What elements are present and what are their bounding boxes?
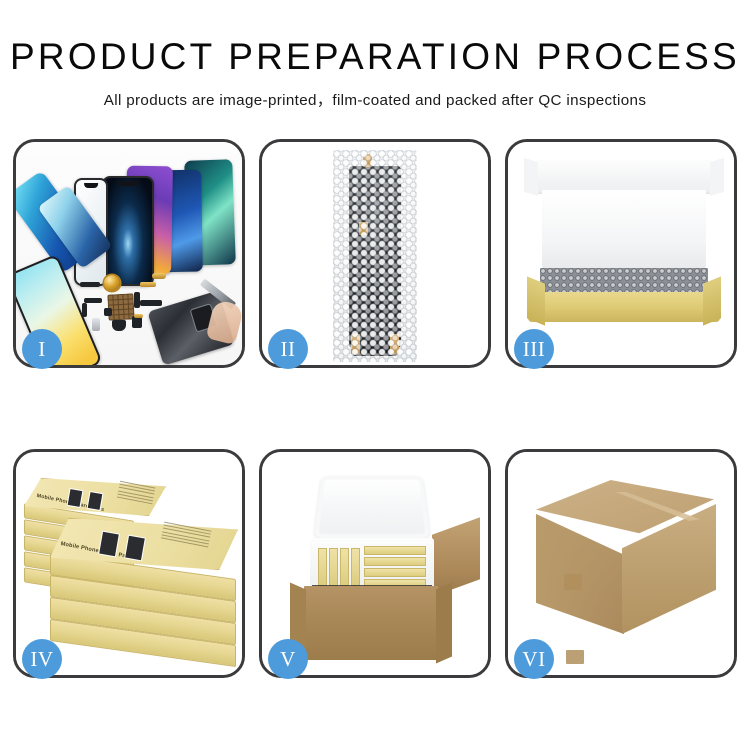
- sim-tray-part: [92, 318, 100, 331]
- process-steps-grid: I II: [13, 139, 737, 678]
- gold-flex-part: [140, 282, 156, 287]
- step-panel-1[interactable]: I: [13, 139, 245, 368]
- carton-front-face: [304, 586, 438, 660]
- chip-array-part: [107, 293, 134, 320]
- page-subtitle: All products are image-printed，film-coat…: [0, 88, 750, 110]
- grey-bubble-pack: [540, 268, 708, 294]
- step-panel-5[interactable]: V: [259, 449, 491, 678]
- white-foam-sheet: [542, 190, 706, 268]
- step-badge-2: II: [268, 329, 308, 369]
- carton-tape-lower: [566, 650, 584, 664]
- yellow-boxes-inside: [318, 546, 426, 586]
- phone-dark-screen: [102, 176, 154, 286]
- page-header: PRODUCT PREPARATION PROCESS All products…: [0, 0, 750, 110]
- step-badge-5: V: [268, 639, 308, 679]
- box-lid-back: [536, 160, 712, 194]
- copper-coil-part: [104, 275, 120, 291]
- step-panel-6[interactable]: VI: [505, 449, 737, 678]
- carton-flap-right: [432, 517, 480, 596]
- step-panel-4[interactable]: Mobile Phone Spare Parts Mobile Phone Sp…: [13, 449, 245, 678]
- bubble-wrap-bag: [333, 150, 417, 362]
- bubble-texture-overlay: [333, 150, 417, 362]
- step-badge-6: VI: [514, 639, 554, 679]
- step-badge-4: IV: [22, 639, 62, 679]
- gold-flex-part-2: [152, 273, 166, 279]
- flex-cable-2: [84, 298, 102, 303]
- step-badge-1: I: [22, 329, 62, 369]
- step-panel-2[interactable]: II: [259, 139, 491, 368]
- protector-notch: [84, 183, 98, 188]
- yellow-box-tray: [528, 292, 720, 322]
- styrofoam-lid: [314, 476, 430, 537]
- small-ic-part: [104, 308, 112, 316]
- step-panel-3[interactable]: III: [505, 139, 737, 368]
- flex-cable-3: [82, 303, 87, 317]
- box-stack-scene: Mobile Phone Spare Parts Mobile Phone Sp…: [22, 470, 242, 666]
- flex-cable-1: [134, 292, 140, 308]
- phone-notch: [117, 181, 139, 186]
- step-badge-3: III: [514, 329, 554, 369]
- page-title: PRODUCT PREPARATION PROCESS: [0, 38, 750, 75]
- camera-contact-part: [134, 314, 143, 318]
- carton-tape-upper: [564, 574, 582, 590]
- flex-cable-4: [140, 300, 162, 306]
- connector-part-1: [80, 282, 100, 287]
- speaker-part: [112, 320, 126, 331]
